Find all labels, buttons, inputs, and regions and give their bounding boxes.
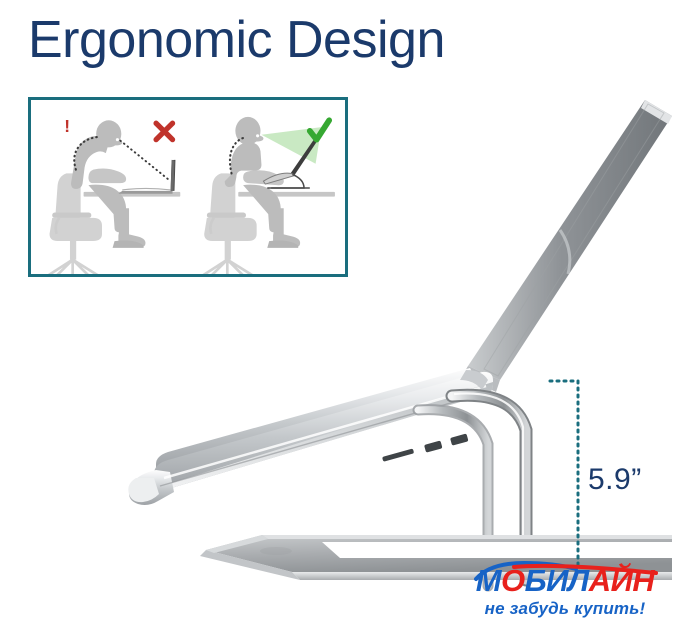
brand-part-3: АЙН (589, 563, 655, 598)
brand-part-1: О (501, 563, 525, 598)
usb-port-2 (450, 433, 469, 445)
product-image (0, 80, 674, 600)
laptop-lid (462, 100, 672, 392)
product-marketing-image: Ergonomic Design (0, 0, 674, 640)
brand-part-2: БИЛ (525, 563, 589, 598)
watermark: МОБИЛАЙН не забудь купить! (462, 564, 668, 626)
laptop-stand-illustration (0, 80, 674, 600)
page-title: Ergonomic Design (28, 12, 445, 68)
watermark-brand: МОБИЛАЙН (462, 564, 668, 598)
base-logo-emboss (260, 547, 292, 555)
brand-part-0: М (476, 563, 501, 598)
measurement-label: 5.9” (588, 463, 642, 497)
sd-card-slot (382, 448, 414, 461)
usb-port-1 (424, 440, 443, 452)
laptop-body (128, 368, 493, 505)
watermark-tagline: не забудь купить! (462, 598, 668, 620)
